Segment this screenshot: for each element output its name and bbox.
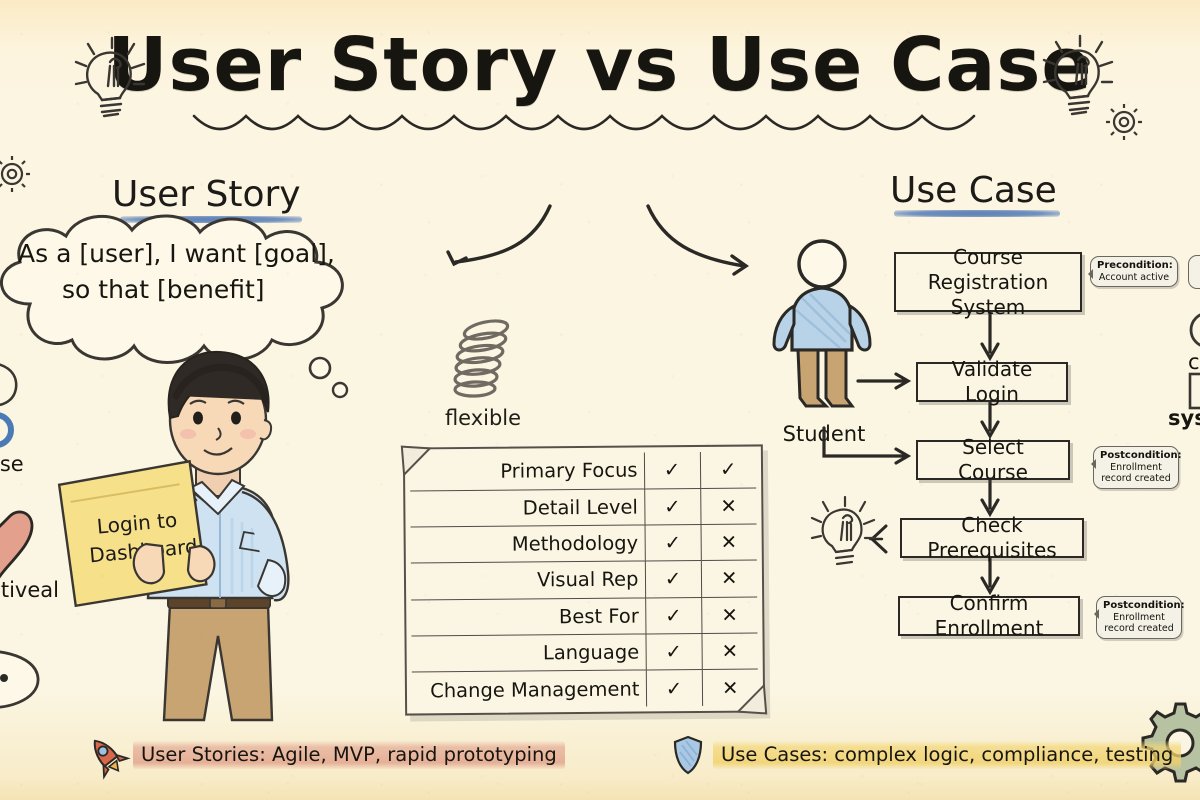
comparison-table: Primary Focus✓✓Detail Level✓✕Methodology… [410,451,758,708]
banner-right-text: Use Cases: complex logic, compliance, te… [713,741,1181,769]
shield-icon [672,735,704,775]
table-row: Primary Focus✓✓ [410,451,756,490]
table-cell-check-icon: ✓ [645,633,701,670]
gear-icon [0,152,36,196]
table-cell-cross-icon: ✕ [701,524,757,561]
table-row-label: Best For [411,598,645,636]
page-title: User Story vs Use Case [0,28,1200,102]
flow-box-course-registration-system[interactable]: Course Registration System [894,252,1082,312]
table-row-label: Detail Level [410,489,644,527]
whiteboard-canvas: User Story vs Use Case User Story Use Ca… [0,0,1200,800]
table-cell-check-icon: ✓ [644,488,700,525]
flow-box-select-course[interactable]: Select Course [916,440,1070,480]
cropped-circle-icon [1186,310,1200,350]
comparison-table-card: Primary Focus✓✓Detail Level✓✕Methodology… [403,444,765,715]
heart-icon [0,506,42,586]
flow-box-confirm-enrollment[interactable]: Confirm Enrollment [898,596,1080,636]
table-cell-check-icon: ✓ [700,451,756,488]
person-illustration: Login to Dashboard [92,336,364,722]
dogear-bottom-right-icon [736,683,766,713]
callout-title: Postcondition: [1100,450,1182,461]
table-cell-check-icon: ✓ [644,452,700,489]
spring-coil-icon [428,318,538,404]
callout-body: Enrollment record created [1104,612,1174,635]
rocket-icon [88,735,124,775]
diverging-arrows [430,206,770,318]
speech-bubble-icon [0,646,60,728]
table-cell-cross-icon: ✕ [700,488,756,525]
cropped-speech-bubble-icon [0,356,44,456]
table-cell-check-icon: ✓ [646,670,702,707]
callout-cropped-right-edge [1188,255,1200,289]
table-row: Visual Rep✓✕ [411,560,757,599]
callout-postcondition-select-course: Postcondition: Enrollment record created [1093,446,1179,489]
banner-left-text: User Stories: Agile, MVP, rapid prototyp… [133,741,565,769]
use-case-underline [894,210,1060,217]
table-row: Detail Level✓✕ [410,488,756,527]
cloud-line-2: so that [benefit] [62,272,410,308]
arrow-actor-to-validate-login [856,368,918,394]
spring-label: flexible [428,406,538,430]
cropped-label-ise: ise [0,452,24,476]
title-squiggle-underline [192,112,1008,142]
table-row-label: Change Management [412,670,646,708]
callout-precondition: Precondition: Account active [1090,256,1178,287]
table-cell-cross-icon: ✕ [701,633,757,670]
flow-box-check-prerequisites[interactable]: Check Prerequisites [900,518,1084,558]
table-row: Language✓✕ [411,633,757,672]
cropped-label-system: syste [1168,406,1200,430]
cloud-line-1: As a [user], I want [goal], [18,239,335,268]
banner-use-cases: Use Cases: complex logic, compliance, te… [672,735,1181,775]
user-story-template-text: As a [user], I want [goal], so that [ben… [18,236,410,308]
callout-body: Account active [1099,272,1169,283]
flow-box-validate-login[interactable]: Validate Login [916,362,1068,402]
table-cell-check-icon: ✓ [645,597,701,634]
gear-icon [1104,102,1144,142]
flexible-annotation: flexible [428,318,538,430]
lightbulb-icon [806,494,882,574]
arrow-actor-to-select-course [822,424,920,470]
table-cell-cross-icon: ✕ [701,597,757,634]
table-row: Best For✓✕ [411,597,757,636]
lightbulb-icon [68,36,154,126]
cropped-label-ativeal: ativeal [0,578,59,602]
callout-title: Precondition: [1097,260,1173,271]
table-cell-cross-icon: ✕ [701,560,757,597]
banner-user-stories: User Stories: Agile, MVP, rapid prototyp… [88,735,565,775]
section-heading-use-case: Use Case [890,170,1057,211]
table-row-label: Language [411,634,645,672]
callout-title: Postcondition: [1103,600,1185,611]
table-row: Methodology✓✕ [411,524,757,563]
table-row-label: Methodology [411,525,645,563]
callout-body: Enrollment record created [1101,462,1171,485]
table-cell-check-icon: ✓ [645,525,701,562]
table-row-label: Visual Rep [411,561,645,599]
table-cell-check-icon: ✓ [645,561,701,598]
callout-postcondition-confirm-enrollment: Postcondition: Enrollment record created [1096,596,1182,639]
table-row-label: Primary Focus [410,452,644,490]
dogear-top-left-icon [402,446,432,476]
table-row: Change Management✓✕ [412,669,758,708]
